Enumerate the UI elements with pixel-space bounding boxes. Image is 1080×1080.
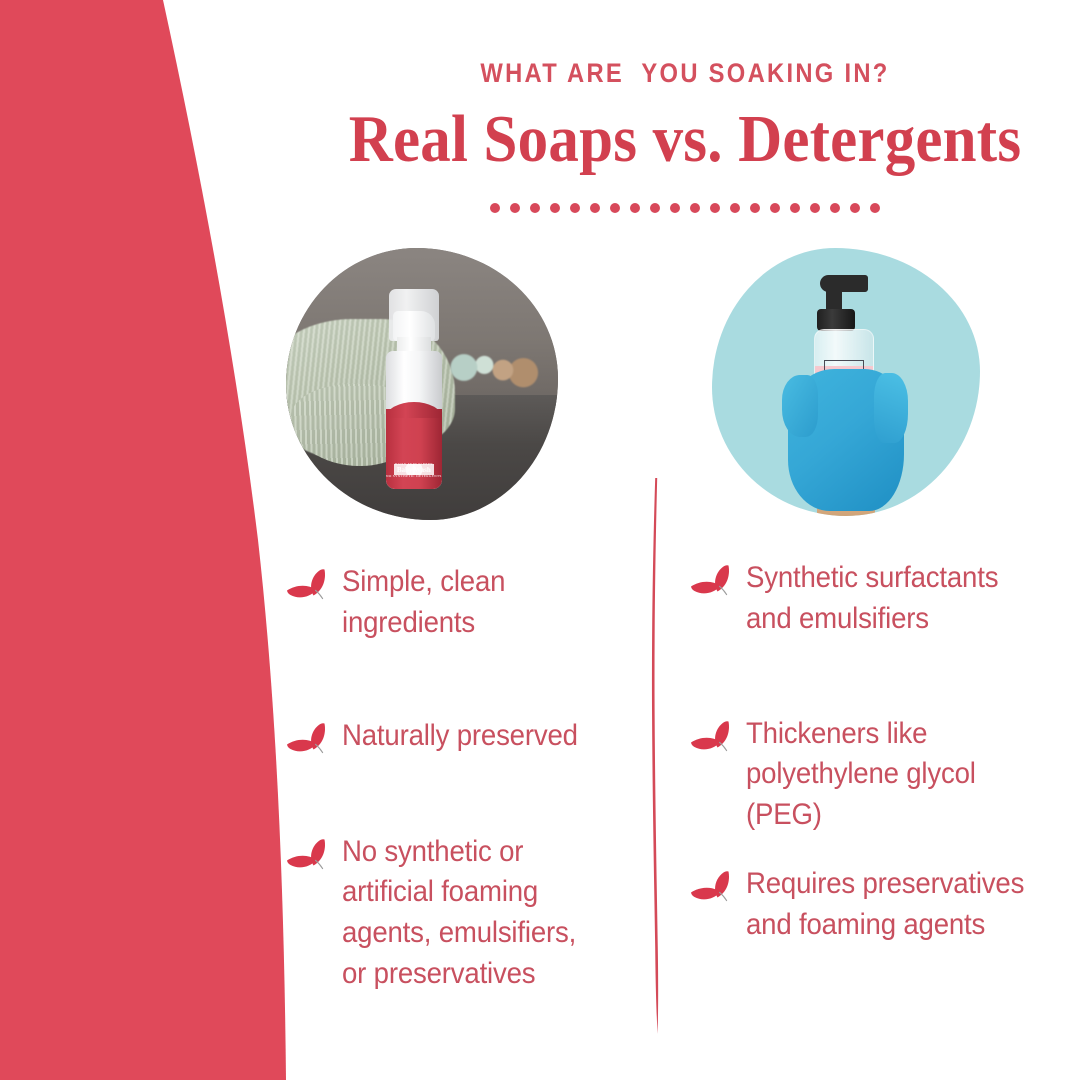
divider-dot (550, 203, 560, 213)
photo-blob-left: earth mama DAILY SKIN SLEEPY Baby Wash N… (286, 248, 558, 520)
leaf-icon (690, 564, 732, 604)
baby-wash-bottle: earth mama DAILY SKIN SLEEPY Baby Wash N… (383, 289, 445, 489)
divider-dot (570, 203, 580, 213)
glove-fingers (874, 373, 908, 443)
dotted-divider (290, 203, 1080, 213)
bullet-item: Thickeners like polyethylene glycol (PEG… (690, 714, 1070, 836)
bullet-text: No synthetic or artificial foaming agent… (342, 832, 603, 995)
header: WHAT ARE YOU SOAKING IN? Real Soaps vs. … (290, 0, 1080, 213)
bullet-item: Simple, clean ingredients (286, 562, 626, 644)
divider-dot (530, 203, 540, 213)
leaf-icon (286, 838, 328, 878)
real-soaps-photo: earth mama DAILY SKIN SLEEPY Baby Wash N… (286, 248, 558, 520)
detergents-bullet-list: Synthetic surfactants and emulsifiersThi… (690, 558, 1070, 946)
glove-thumb (782, 375, 818, 437)
divider-dot (590, 203, 600, 213)
divider-dot (610, 203, 620, 213)
leaf-icon (690, 870, 732, 910)
divider-dot (850, 203, 860, 213)
bullet-item: Requires preservatives and foaming agent… (690, 864, 1070, 946)
column-detergents: HAND SOAP Synthetic surfactants and emul… (690, 248, 1070, 980)
bullet-text: Synthetic surfactants and emulsifiers (746, 558, 1044, 640)
divider-dot (710, 203, 720, 213)
divider-dot (690, 203, 700, 213)
photo-blob-right: HAND SOAP (712, 248, 980, 516)
bottle-certification-seals (394, 464, 434, 475)
divider-dot (810, 203, 820, 213)
divider-dot (830, 203, 840, 213)
divider-dot (490, 203, 500, 213)
bottle-body: earth mama DAILY SKIN SLEEPY Baby Wash N… (386, 351, 442, 489)
pump-collar (817, 309, 855, 331)
page-title: Real Soaps vs. Detergents (290, 102, 1080, 179)
bullet-item: Naturally preserved (286, 716, 626, 762)
column-real-soaps: earth mama DAILY SKIN SLEEPY Baby Wash N… (286, 248, 626, 1029)
detergents-photo: HAND SOAP (712, 248, 980, 516)
divider-dot (510, 203, 520, 213)
leaf-icon (690, 720, 732, 760)
bottle-red-label: DAILY SKIN SLEEPY Baby Wash NO SYNTHETIC… (386, 409, 442, 489)
bullet-text: Requires preservatives and foaming agent… (746, 864, 1044, 946)
bullet-text: Simple, clean ingredients (342, 562, 603, 644)
real-soaps-bullet-list: Simple, clean ingredientsNaturally prese… (286, 562, 626, 995)
divider-dot (650, 203, 660, 213)
divider-dot (870, 203, 880, 213)
divider-dot (770, 203, 780, 213)
bullet-item: Synthetic surfactants and emulsifiers (690, 558, 1070, 640)
leaf-icon (286, 722, 328, 762)
divider-dot (670, 203, 680, 213)
comparison-columns: earth mama DAILY SKIN SLEEPY Baby Wash N… (0, 248, 1080, 1080)
divider-dot (630, 203, 640, 213)
bullet-item: No synthetic or artificial foaming agent… (286, 832, 626, 995)
divider-dot (730, 203, 740, 213)
leaf-icon (286, 568, 328, 608)
bullet-text: Naturally preserved (342, 716, 578, 757)
eyebrow-text: WHAT ARE YOU SOAKING IN? (337, 58, 1032, 89)
wooden-beads (449, 346, 541, 390)
divider-dot (750, 203, 760, 213)
divider-dot (790, 203, 800, 213)
blue-nitrile-glove (788, 369, 904, 511)
bullet-text: Thickeners like polyethylene glycol (PEG… (746, 714, 1044, 836)
